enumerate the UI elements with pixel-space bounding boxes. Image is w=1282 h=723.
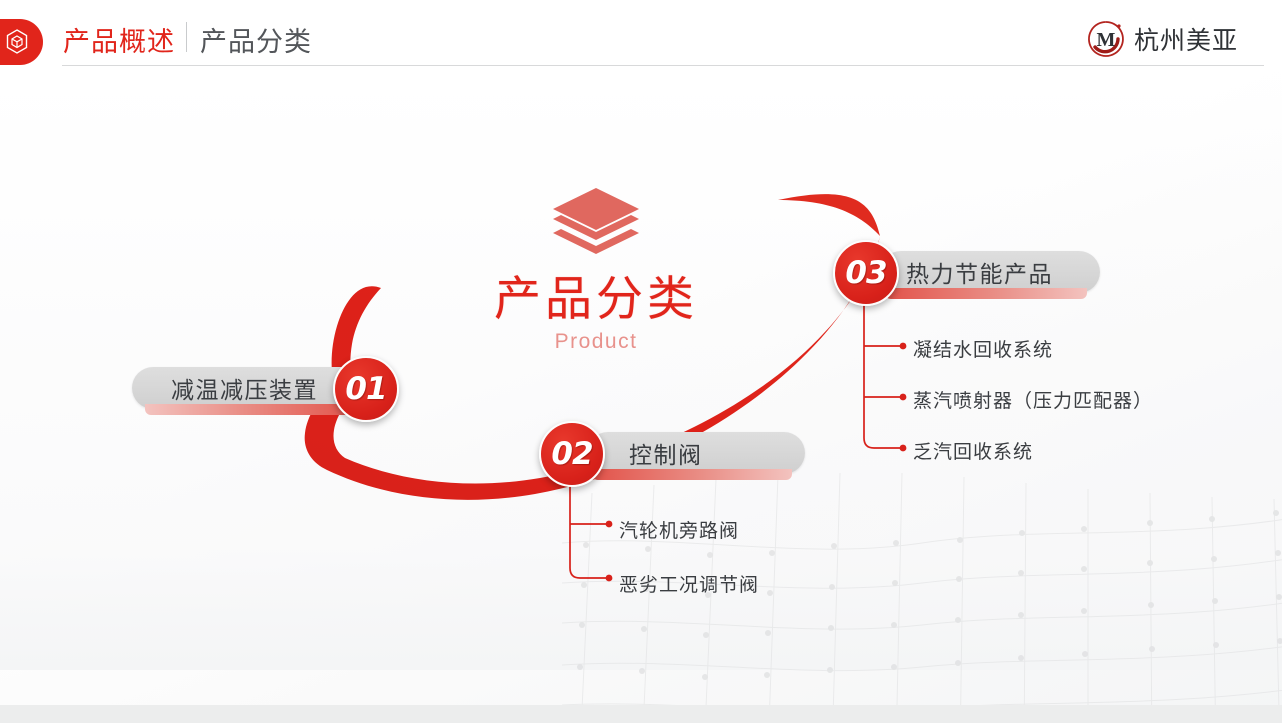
cube-hexagon-icon	[6, 29, 28, 54]
node-01-label: 减温减压装置	[171, 371, 318, 405]
hero-block: 产品分类 Product	[446, 186, 746, 354]
node-03-sub-item[interactable]: 凝结水回收系统	[913, 335, 1053, 362]
node-02-sub-item[interactable]: 汽轮机旁路阀	[619, 516, 739, 543]
layers-stack-icon	[550, 186, 642, 262]
header-separator	[186, 22, 187, 52]
slide-canvas: 产品概述 产品分类 M 杭州美亚	[0, 0, 1282, 723]
brand-name: 杭州美亚	[1134, 21, 1238, 57]
node-03-number: 03	[845, 255, 886, 291]
hero-title: 产品分类	[446, 274, 746, 323]
header-badge	[0, 19, 43, 65]
node-03-sub-item[interactable]: 乏汽回收系统	[913, 437, 1033, 464]
node-01-number: 01	[345, 371, 386, 407]
page-title-secondary: 产品分类	[200, 20, 312, 59]
node-02-badge[interactable]: 02	[539, 421, 605, 487]
brand-logo: M 杭州美亚	[1085, 18, 1238, 60]
node-03-badge[interactable]: 03	[833, 240, 899, 306]
node-03-accent-bar	[885, 288, 1087, 299]
page-title-primary: 产品概述	[63, 20, 175, 59]
hero-subtitle: Product	[446, 330, 746, 354]
node-03-label: 热力节能产品	[906, 255, 1053, 289]
svg-text:M: M	[1097, 29, 1116, 51]
footer-band	[0, 705, 1282, 723]
meiya-circle-m-icon: M	[1085, 18, 1127, 60]
header-divider-line	[62, 65, 1264, 66]
node-02-label: 控制阀	[629, 436, 703, 470]
node-03-sub-item[interactable]: 蒸汽喷射器（压力匹配器）	[913, 386, 1153, 413]
node-01-accent-bar	[145, 404, 360, 415]
node-01-badge[interactable]: 01	[333, 356, 399, 422]
flow-arc-decoration	[0, 0, 1282, 723]
node-02-accent-bar	[592, 469, 792, 480]
slide-header: 产品概述 产品分类 M 杭州美亚	[0, 0, 1282, 78]
node-02-number: 02	[551, 436, 592, 472]
node-02-sub-item[interactable]: 恶劣工况调节阀	[619, 570, 759, 597]
